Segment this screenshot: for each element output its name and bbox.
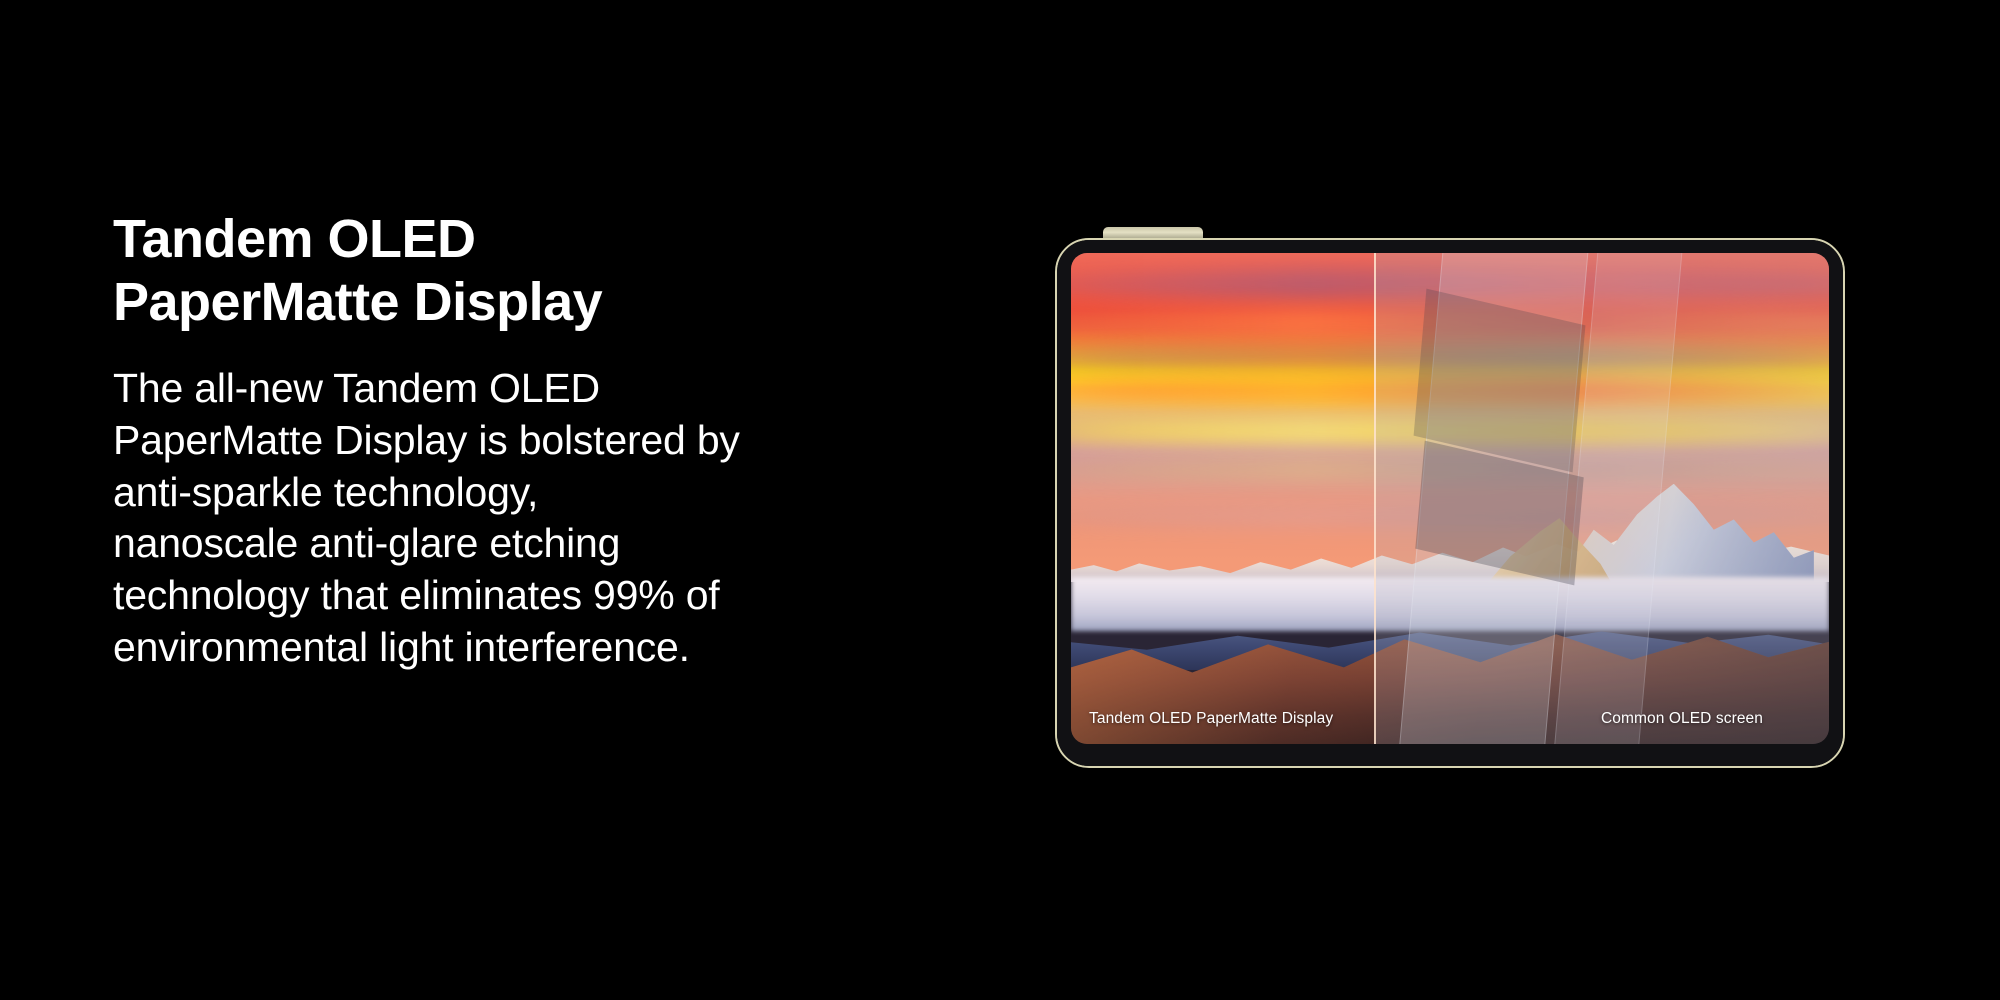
cloud-band	[1071, 307, 1829, 336]
tablet-device: Tandem OLED PaperMatte Display Common OL…	[1055, 238, 1845, 768]
cloud-band	[1071, 508, 1829, 528]
body-paragraph: The all-new Tandem OLED PaperMatte Displ…	[113, 363, 813, 673]
page-root: { "background_color": "#000000", "copy":…	[0, 0, 2000, 1000]
cloud-band	[1071, 268, 1829, 302]
cloud-band	[1071, 459, 1829, 479]
tablet-frame: Tandem OLED PaperMatte Display Common OL…	[1055, 238, 1845, 768]
wallpaper-scene	[1071, 253, 1829, 744]
cloud-band	[1071, 376, 1829, 405]
caption-left-papermatte: Tandem OLED PaperMatte Display	[1089, 710, 1333, 728]
caption-right-common-oled: Common OLED screen	[1601, 710, 1763, 728]
marketing-text-block: Tandem OLED PaperMatte Display The all-n…	[113, 208, 813, 673]
cloud-sea	[1071, 577, 1829, 631]
tablet-bezel: Tandem OLED PaperMatte Display Common OL…	[1057, 240, 1843, 766]
tablet-screen: Tandem OLED PaperMatte Display Common OL…	[1071, 253, 1829, 744]
page-title: Tandem OLED PaperMatte Display	[113, 208, 813, 333]
cloud-band	[1071, 346, 1829, 371]
cloud-band	[1071, 420, 1829, 445]
